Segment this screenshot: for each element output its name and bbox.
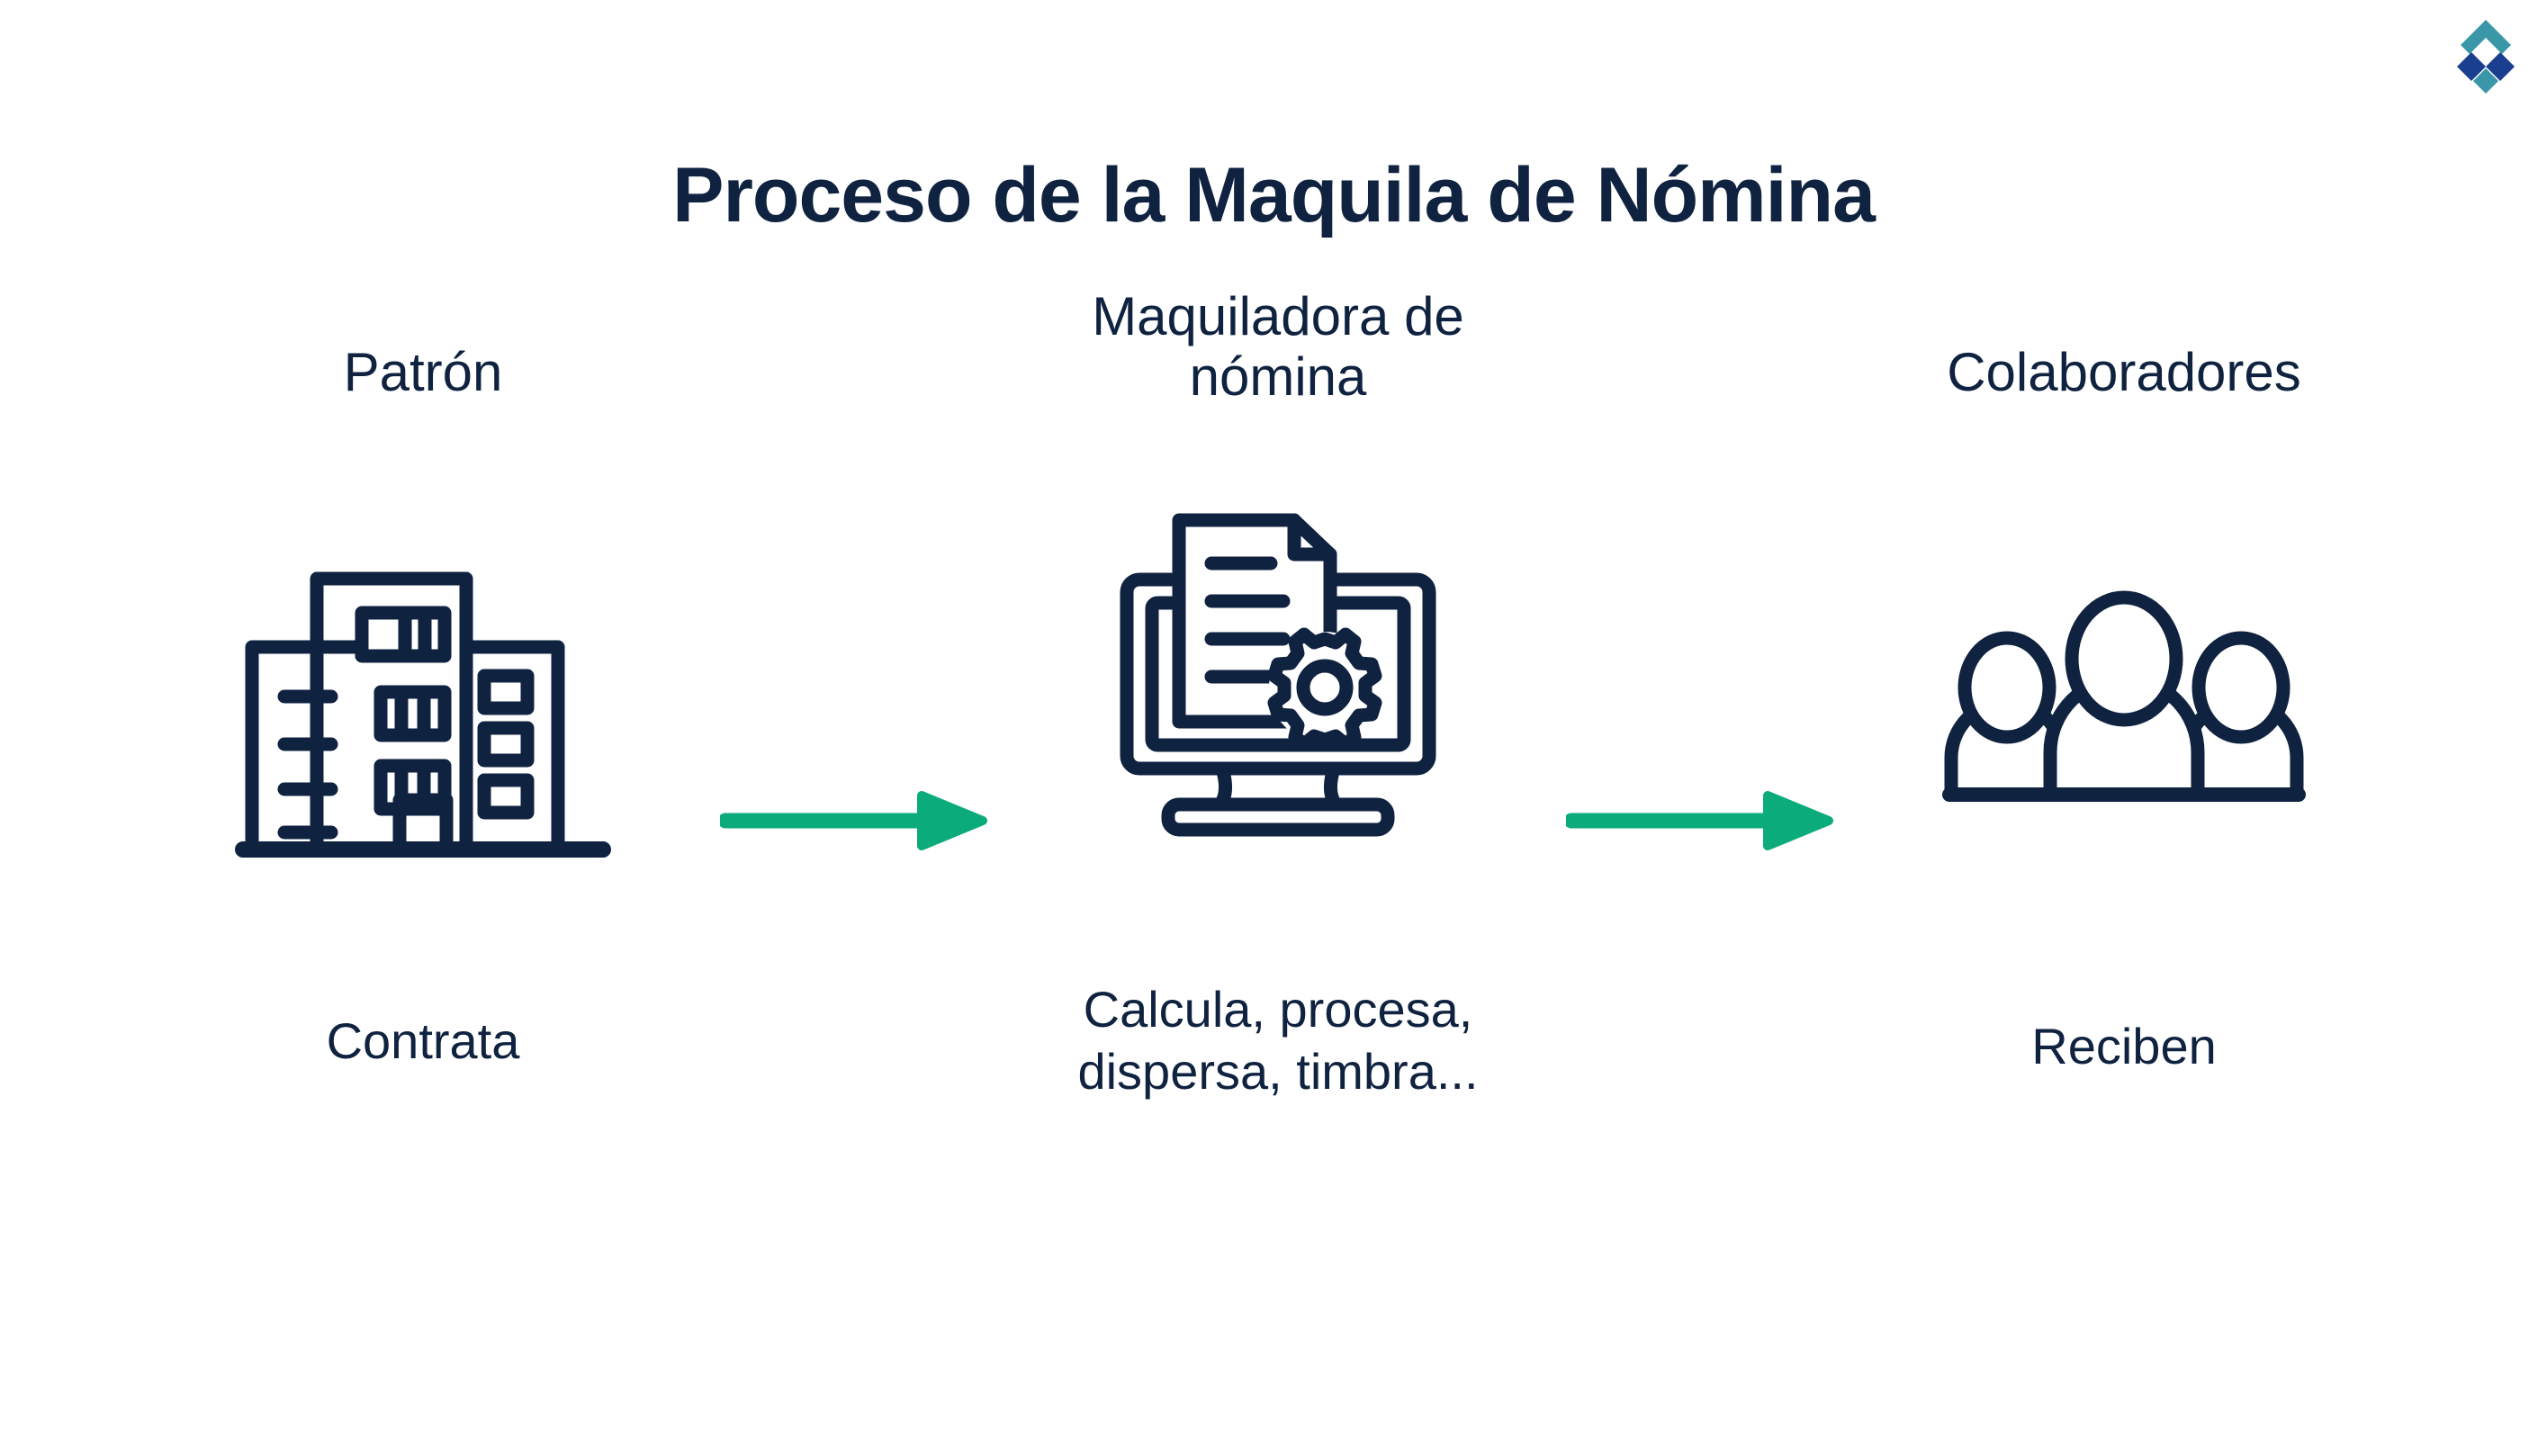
step-patron: Patrón bbox=[81, 342, 765, 1073]
monitor-document-gear-icon bbox=[936, 416, 1620, 920]
step-maquiladora-heading-line-1: Maquiladora de bbox=[936, 286, 1620, 346]
step-patron-caption-line-1: Contrata bbox=[81, 1011, 765, 1072]
gear-icon bbox=[1269, 632, 1381, 744]
step-maquiladora-caption: Calcula, procesa, dispersa, timbra... bbox=[936, 979, 1620, 1102]
step-patron-caption: Contrata bbox=[81, 1011, 765, 1072]
group-of-people-icon bbox=[1782, 447, 2466, 951]
step-maquiladora-heading-line-2: nómina bbox=[936, 346, 1620, 407]
step-colaboradores-caption-line-1: Reciben bbox=[1782, 1016, 2466, 1077]
step-colaboradores-heading: Colaboradores bbox=[1782, 342, 2466, 402]
step-maquiladora: Maquiladora de nómina bbox=[936, 342, 1620, 1102]
step-colaboradores-caption: Reciben bbox=[1782, 1016, 2466, 1077]
step-patron-heading-line-1: Patrón bbox=[81, 342, 765, 402]
step-maquiladora-heading: Maquiladora de nómina bbox=[936, 286, 1620, 407]
slide-canvas: Proceso de la Maquila de Nómina Patrón bbox=[0, 0, 2547, 1456]
arrow-patron-to-maquiladora bbox=[720, 783, 990, 882]
page-title: Proceso de la Maquila de Nómina bbox=[0, 151, 2547, 240]
brand-logo bbox=[2444, 13, 2527, 95]
office-building-icon bbox=[81, 431, 765, 935]
step-maquiladora-caption-line-1: Calcula, procesa, bbox=[936, 979, 1620, 1040]
step-maquiladora-caption-line-2: dispersa, timbra... bbox=[936, 1041, 1620, 1102]
step-colaboradores: Colaboradores Reciben bbox=[1782, 342, 2466, 1078]
step-patron-heading: Patrón bbox=[81, 342, 765, 402]
step-colaboradores-heading-line-1: Colaboradores bbox=[1782, 342, 2466, 402]
arrow-maquiladora-to-colaboradores bbox=[1566, 783, 1836, 882]
